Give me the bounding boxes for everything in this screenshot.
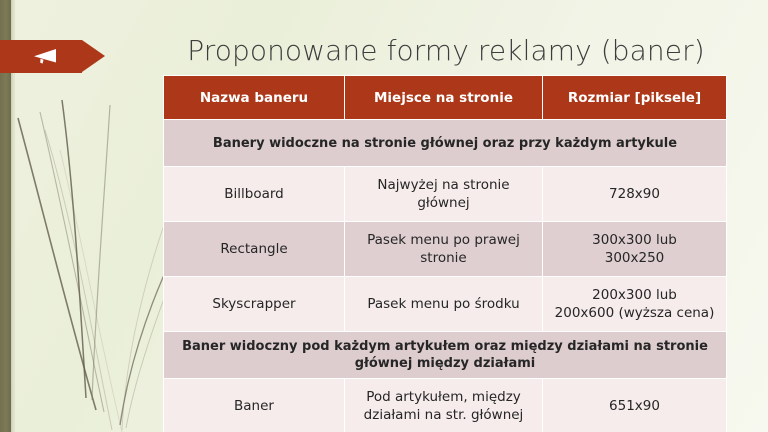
table-header-row: Nazwa baneru Miejsce na stronie Rozmiar … — [164, 76, 727, 120]
table-row: Skyscrapper Pasek menu po środku 200x300… — [164, 277, 727, 332]
cell-banner-size: 300x300 lub 300x250 — [543, 222, 727, 277]
page-title: Proponowane formy reklamy (baner) — [163, 34, 729, 68]
cell-banner-place: Pod artykułem, między działami na str. g… — [345, 379, 543, 432]
column-header-place: Miejsce na stronie — [345, 76, 543, 120]
cell-banner-name: Baner — [164, 379, 345, 432]
column-header-name: Nazwa baneru — [164, 76, 345, 120]
table-section-row: Banery widoczne na stronie głównej oraz … — [164, 120, 727, 167]
table-section-row: Baner widoczny pod każdym artykułem oraz… — [164, 332, 727, 379]
cell-banner-size: 651x90 — [543, 379, 727, 432]
cell-banner-place: Najwyżej na stronie głównej — [345, 167, 543, 222]
table-row: Billboard Najwyżej na stronie głównej 72… — [164, 167, 727, 222]
cell-banner-size: 200x300 lub 200x600 (wyższa cena) — [543, 277, 727, 332]
cell-banner-place: Pasek menu po prawej stronie — [345, 222, 543, 277]
column-header-size: Rozmiar [piksele] — [543, 76, 727, 120]
section-title: Baner widoczny pod każdym artykułem oraz… — [164, 332, 727, 379]
section-title: Banery widoczne na stronie głównej oraz … — [164, 120, 727, 167]
slide-canvas: Proponowane formy reklamy (baner) Nazwa … — [0, 0, 768, 432]
cell-banner-name: Billboard — [164, 167, 345, 222]
banner-offer-table: Nazwa baneru Miejsce na stronie Rozmiar … — [163, 75, 727, 432]
cell-banner-place: Pasek menu po środku — [345, 277, 543, 332]
table-row: Rectangle Pasek menu po prawej stronie 3… — [164, 222, 727, 277]
cell-banner-size: 728x90 — [543, 167, 727, 222]
cell-banner-name: Skyscrapper — [164, 277, 345, 332]
arrow-banner-tip — [82, 40, 105, 72]
megaphone-icon — [30, 48, 58, 65]
arrow-banner — [0, 40, 105, 73]
table-row: Baner Pod artykułem, między działami na … — [164, 379, 727, 432]
cell-banner-name: Rectangle — [164, 222, 345, 277]
